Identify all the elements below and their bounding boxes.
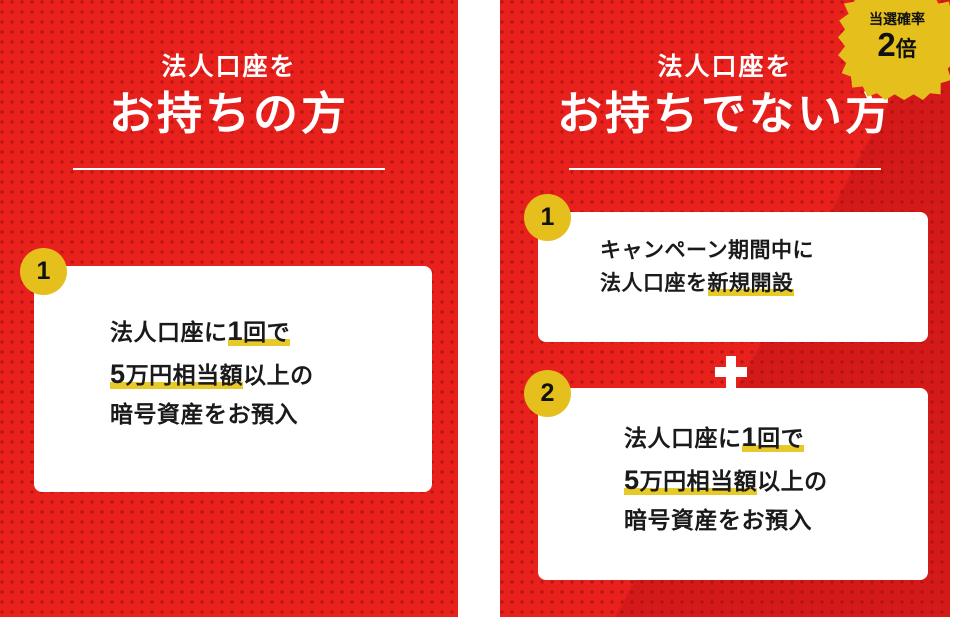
line-highlight: 1回で [742,425,805,452]
line-pre: キャンペーン期間中に [600,239,814,262]
left-heading-divider [73,168,385,170]
left-card-1-number: 1 [20,248,67,295]
right-card-1-number: 1 [524,194,571,241]
right-card-2: 2 法人口座に1回で 5万円相当額以上の 暗号資産をお預入 [538,388,928,580]
line-post: 以上の [757,468,828,494]
line-pre: 暗号資産をお預入 [110,401,298,427]
line-highlight: 1回で [228,319,291,346]
right-card-1: 1 キャンペーン期間中に 法人口座を新規開設 [538,212,928,342]
left-heading-line2: お持ちの方 [0,86,458,142]
promo-banner: 法人口座を お持ちの方 1 法人口座に1回で 5万円相当額以上の 暗号資産をお預… [0,0,960,617]
right-card-2-text: 法人口座に1回で 5万円相当額以上の 暗号資産をお預入 [538,388,928,538]
line-highlight: 5万円相当額 [110,362,243,389]
right-heading-divider [569,168,881,170]
line-pre: 法人口座を [600,272,708,295]
right-card-1-text: キャンペーン期間中に 法人口座を新規開設 [538,212,928,300]
card-text-line: 法人口座に1回で [624,416,928,459]
odds-badge-value: 2 [877,26,895,63]
odds-badge: 当選確率 2倍 [838,0,950,100]
odds-badge-value-group: 2倍 [838,28,950,63]
right-card-2-number: 2 [524,370,571,417]
left-panel: 法人口座を お持ちの方 1 法人口座に1回で 5万円相当額以上の 暗号資産をお預… [0,0,458,617]
line-highlight-lead: 1 [742,421,758,452]
line-pre: 暗号資産をお預入 [624,507,812,533]
plus-separator-icon [715,356,747,388]
line-pre: 法人口座に [624,425,742,451]
left-heading-line1: 法人口座を [0,52,458,82]
card-text-line: 法人口座に1回で [110,310,432,353]
line-highlight: 5万円相当額 [624,468,757,495]
line-highlight-lead: 1 [228,315,244,346]
card-text-line: キャンペーン期間中に [600,234,928,267]
odds-badge-label: 当選確率 [838,12,950,27]
line-highlight: 新規開設 [708,272,794,296]
left-card-1-text: 法人口座に1回で 5万円相当額以上の 暗号資産をお預入 [34,266,432,432]
line-pre: 法人口座に [110,319,228,345]
left-panel-heading: 法人口座を お持ちの方 [0,0,458,170]
left-card-1: 1 法人口座に1回で 5万円相当額以上の 暗号資産をお預入 [34,266,432,492]
line-post: 以上の [243,362,314,388]
card-text-line: 暗号資産をお預入 [624,502,928,538]
odds-badge-suffix: 倍 [896,38,917,61]
line-highlight-lead: 5 [624,464,640,495]
card-text-line: 5万円相当額以上の [110,353,432,396]
right-panel: 当選確率 2倍 法人口座を お持ちでない方 1 キャンペーン期間中に 法人口座を… [500,0,950,617]
card-text-line: 5万円相当額以上の [624,459,928,502]
card-text-line: 法人口座を新規開設 [600,267,928,300]
card-text-line: 暗号資産をお預入 [110,396,432,432]
line-highlight-lead: 5 [110,358,126,389]
